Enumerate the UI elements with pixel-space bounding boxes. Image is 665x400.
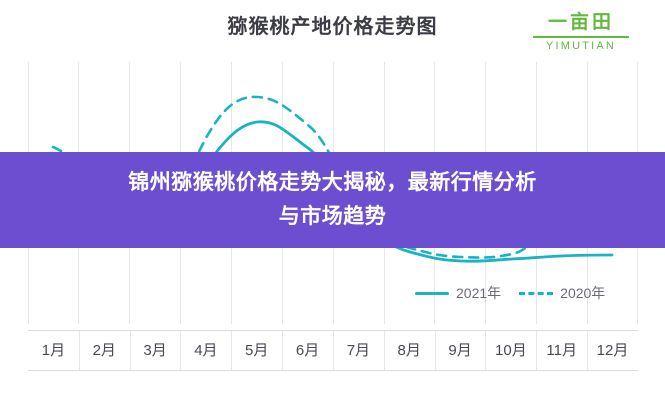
chart-x-axis: 1月 2月 3月 4月 5月 6月 7月 8月 9月 10月 11月 12月 (28, 330, 638, 371)
logo-underline (533, 36, 629, 38)
x-tick-2: 2月 (79, 331, 130, 371)
legend-label-2021: 2021年 (456, 283, 501, 303)
yimutian-logo: 一亩田 YIMUTIAN (521, 12, 641, 64)
x-tick-5: 5月 (231, 331, 282, 371)
x-tick-1: 1月 (28, 331, 79, 371)
article-title-text: 锦州猕猴桃价格走势大揭秘，最新行情分析 与市场趋势 (33, 166, 633, 234)
x-tick-12: 12月 (587, 331, 638, 371)
x-tick-4: 4月 (180, 331, 231, 371)
x-tick-7: 7月 (333, 331, 384, 371)
chart-legend: 2021年 2020年 (415, 283, 605, 303)
article-title-banner: 锦州猕猴桃价格走势大揭秘，最新行情分析 与市场趋势 (0, 152, 665, 248)
legend-swatch-2020 (519, 292, 553, 295)
x-tick-6: 6月 (282, 331, 333, 371)
logo-brand-text: YIMUTIAN (521, 39, 641, 53)
article-title-line1: 锦州猕猴桃价格走势大揭秘，最新行情分析 (128, 171, 537, 194)
legend-label-2020: 2020年 (560, 283, 605, 303)
legend-item-2021: 2021年 (415, 283, 501, 303)
x-tick-10: 10月 (485, 331, 536, 371)
x-tick-11: 11月 (536, 331, 587, 371)
chart-screenshot: 猕猴桃产地价格走势图 一亩田 YIMUTIAN (0, 0, 665, 400)
logo-mark-text: 一亩田 (521, 12, 641, 34)
x-tick-3: 3月 (130, 331, 181, 371)
legend-item-2020: 2020年 (519, 283, 605, 303)
x-tick-9: 9月 (435, 331, 486, 371)
chart-bottom-rule (28, 370, 638, 371)
x-tick-8: 8月 (384, 331, 435, 371)
article-title-line2: 与市场趋势 (279, 205, 387, 228)
legend-swatch-2021 (415, 292, 449, 295)
